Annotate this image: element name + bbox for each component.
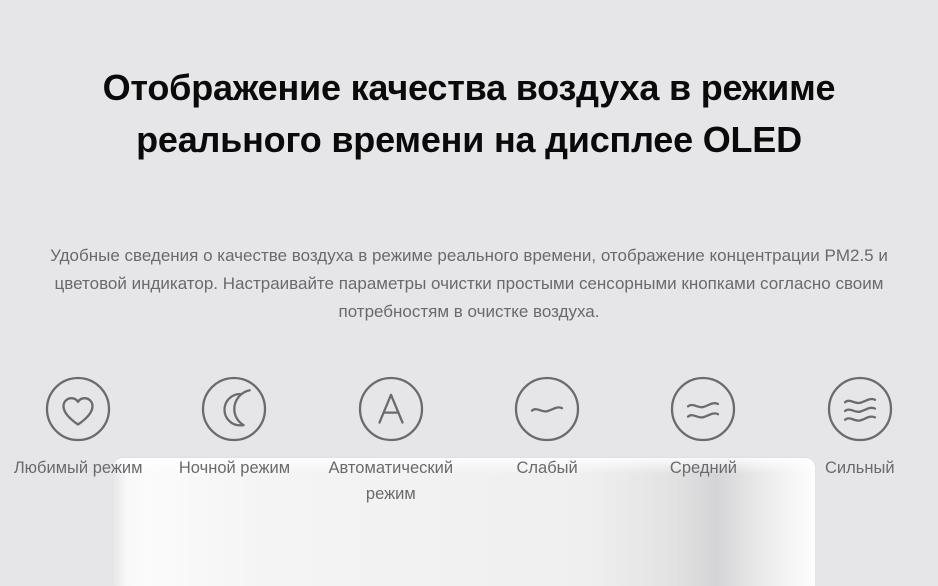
letter-a-icon bbox=[357, 375, 425, 443]
promo-page: Отображение качества воздуха в режиме ре… bbox=[0, 0, 938, 586]
mode-item-low[interactable]: Слабый bbox=[469, 375, 625, 507]
mode-item-medium[interactable]: Средний bbox=[625, 375, 781, 507]
page-title: Отображение качества воздуха в режиме ре… bbox=[0, 62, 938, 166]
mode-label-medium: Средний bbox=[628, 455, 778, 481]
moon-icon bbox=[200, 375, 268, 443]
mode-item-night[interactable]: Ночной режим bbox=[156, 375, 312, 507]
mode-label-auto: Автоматический режим bbox=[316, 455, 466, 507]
mode-label-low: Слабый bbox=[472, 455, 622, 481]
mode-list: Любимый режим Ночной режим Автоматиче bbox=[0, 375, 938, 507]
mode-label-night: Ночной режим bbox=[159, 455, 309, 481]
page-description: Удобные сведения о качестве воздуха в ре… bbox=[29, 242, 909, 326]
mode-item-high[interactable]: Сильный bbox=[782, 375, 938, 507]
mode-item-favourite[interactable]: Любимый режим bbox=[0, 375, 156, 507]
two-waves-icon bbox=[669, 375, 737, 443]
heart-icon bbox=[44, 375, 112, 443]
mode-label-high: Сильный bbox=[785, 455, 935, 481]
mode-item-auto[interactable]: Автоматический режим bbox=[313, 375, 469, 507]
three-waves-icon bbox=[826, 375, 894, 443]
one-wave-icon bbox=[513, 375, 581, 443]
mode-label-favourite: Любимый режим bbox=[3, 455, 153, 481]
